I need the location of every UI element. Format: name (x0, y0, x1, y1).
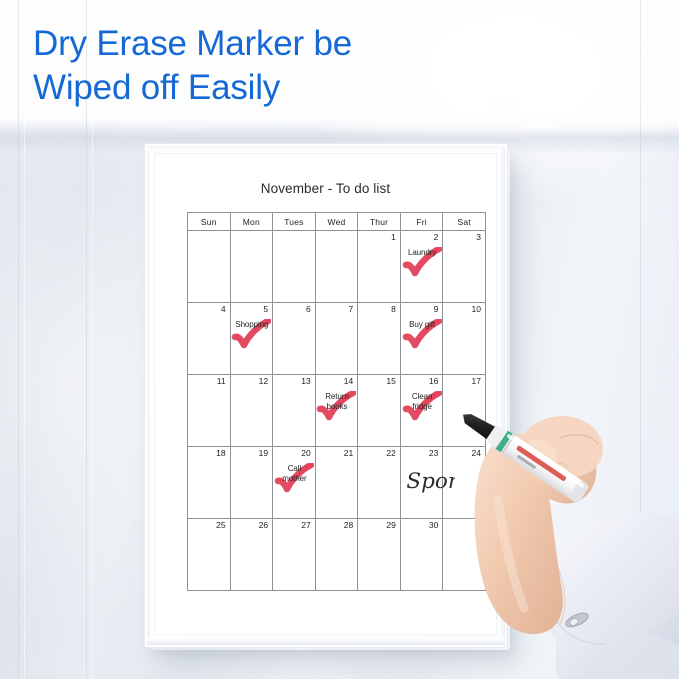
day-number: 17 (472, 376, 481, 386)
calendar-week-row: 12Laundry3 (188, 231, 486, 303)
calendar-day-cell[interactable]: 19 (230, 447, 273, 519)
weekday-header: Thur (358, 213, 401, 231)
day-number: 6 (306, 304, 311, 314)
weekday-header: Sat (443, 213, 486, 231)
calendar-day-cell[interactable] (273, 231, 316, 303)
calendar-week-row: 252627282930 (188, 519, 486, 591)
day-number: 11 (217, 376, 226, 386)
calendar-day-cell[interactable]: 28 (315, 519, 358, 591)
weekday-header: Mon (230, 213, 273, 231)
weekday-header: Wed (315, 213, 358, 231)
shirt-sleeve (556, 560, 679, 679)
whiteboard: November - To do list Sun Mon Tues Wed T… (144, 143, 508, 648)
calendar-week-row: 181920Call mother212223Sport24 (188, 447, 486, 519)
day-number: 25 (216, 520, 225, 530)
calendar-day-cell[interactable]: 10 (443, 303, 486, 375)
day-number: 5 (263, 304, 268, 314)
day-number: 24 (472, 448, 481, 458)
calendar-day-cell[interactable]: 8 (358, 303, 401, 375)
calendar-day-cell[interactable]: 17 (443, 375, 486, 447)
calendar-day-cell[interactable]: 16Clean fridge (400, 375, 443, 447)
day-number: 12 (259, 376, 268, 386)
day-number: 4 (221, 304, 226, 314)
calendar-day-cell[interactable]: 3 (443, 231, 486, 303)
calendar-day-cell[interactable]: 2Laundry (400, 231, 443, 303)
day-number: 9 (434, 304, 439, 314)
calendar-day-cell[interactable]: 26 (230, 519, 273, 591)
day-number: 26 (259, 520, 268, 530)
cufflink-icon (564, 610, 590, 629)
calendar-day-cell[interactable]: 22 (358, 447, 401, 519)
calendar-title: November - To do list (154, 181, 497, 196)
calendar-day-cell[interactable]: 7 (315, 303, 358, 375)
todo-note: Shopping (235, 320, 270, 330)
calendar-day-cell[interactable]: 23Sport (400, 447, 443, 519)
calendar-day-cell[interactable]: 12 (230, 375, 273, 447)
day-number: 22 (386, 448, 395, 458)
calendar-day-cell[interactable]: 27 (273, 519, 316, 591)
day-number: 3 (476, 232, 481, 242)
calendar-body: 12Laundry345Shopping6789Buy gift10111213… (188, 231, 486, 591)
day-number: 29 (386, 520, 395, 530)
calendar-day-cell[interactable]: 21 (315, 447, 358, 519)
calendar-day-cell[interactable]: 13 (273, 375, 316, 447)
day-number: 14 (344, 376, 353, 386)
calendar-day-cell[interactable]: 20Call mother (273, 447, 316, 519)
calendar-day-cell[interactable]: 9Buy gift (400, 303, 443, 375)
day-number: 19 (259, 448, 268, 458)
day-number: 1 (391, 232, 396, 242)
day-number: 30 (429, 520, 438, 530)
day-number: 28 (344, 520, 353, 530)
calendar-day-cell[interactable]: 5Shopping (230, 303, 273, 375)
todo-note: Buy gift (405, 320, 440, 330)
weekday-header: Fri (400, 213, 443, 231)
calendar-header-row: Sun Mon Tues Wed Thur Fri Sat (188, 213, 486, 231)
product-lifestyle-image: Dry Erase Marker be Wiped off Easily Nov… (0, 0, 679, 679)
calendar-day-cell[interactable] (315, 231, 358, 303)
calendar-grid: Sun Mon Tues Wed Thur Fri Sat 12Laundry3… (187, 212, 486, 591)
calendar-day-cell[interactable]: 30 (400, 519, 443, 591)
calendar-day-cell[interactable]: 18 (188, 447, 231, 519)
weekday-header: Tues (273, 213, 316, 231)
calendar-week-row: 45Shopping6789Buy gift10 (188, 303, 486, 375)
wall-seam (24, 0, 25, 679)
calendar-week-row: 11121314Return books1516Clean fridge17 (188, 375, 486, 447)
calendar-day-cell[interactable]: 25 (188, 519, 231, 591)
wall-seam (640, 0, 641, 679)
day-number: 27 (301, 520, 310, 530)
calendar-day-cell[interactable]: 29 (358, 519, 401, 591)
wall-seam (18, 0, 19, 679)
todo-note: Clean fridge (405, 392, 440, 412)
calendar-day-cell[interactable]: 1 (358, 231, 401, 303)
day-number: 2 (434, 232, 439, 242)
frame-edge-bottom (147, 638, 505, 645)
frame-edge-top (147, 146, 505, 151)
svg-text:Sport: Sport (406, 469, 455, 494)
headline-text: Dry Erase Marker be Wiped off Easily (33, 22, 593, 110)
day-number: 23 (429, 448, 438, 458)
day-number: 18 (216, 448, 225, 458)
calendar-day-cell[interactable] (443, 519, 486, 591)
calendar-day-cell[interactable]: 15 (358, 375, 401, 447)
day-number: 7 (349, 304, 354, 314)
calendar-day-cell[interactable] (188, 231, 231, 303)
handwritten-note: Sport (403, 463, 455, 497)
day-number: 10 (472, 304, 481, 314)
day-number: 20 (301, 448, 310, 458)
todo-note: Return books (320, 392, 355, 412)
day-number: 13 (301, 376, 310, 386)
day-number: 15 (386, 376, 395, 386)
calendar-day-cell[interactable] (230, 231, 273, 303)
calendar-day-cell[interactable]: 11 (188, 375, 231, 447)
whiteboard-surface: November - To do list Sun Mon Tues Wed T… (154, 153, 497, 635)
frame-edge-left (147, 146, 152, 645)
todo-note: Laundry (405, 248, 440, 258)
day-number: 21 (344, 448, 353, 458)
calendar-day-cell[interactable]: 6 (273, 303, 316, 375)
day-number: 8 (391, 304, 396, 314)
calendar-day-cell[interactable]: 14Return books (315, 375, 358, 447)
todo-note: Call mother (277, 464, 312, 484)
weekday-header: Sun (188, 213, 231, 231)
shirt-cuff (545, 513, 679, 651)
calendar-day-cell[interactable]: 4 (188, 303, 231, 375)
day-number: 16 (429, 376, 438, 386)
frame-edge-right (499, 146, 505, 645)
